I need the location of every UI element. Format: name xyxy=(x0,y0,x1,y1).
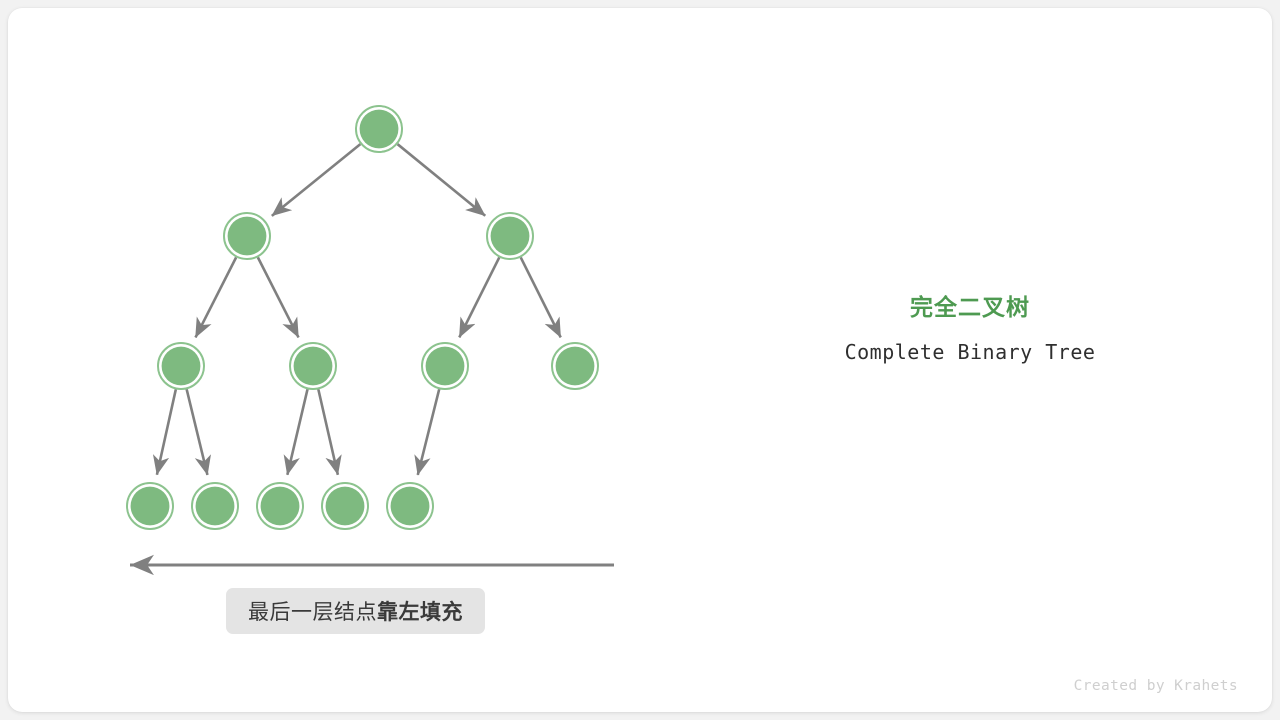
page-title: 完全二叉树 xyxy=(760,292,1180,322)
tree-edge xyxy=(398,144,486,216)
tree-node xyxy=(192,483,238,529)
tree-edge xyxy=(272,144,360,216)
tree-node xyxy=(487,213,533,259)
tree-node-body xyxy=(261,487,300,526)
tree-edge xyxy=(258,257,299,337)
tree-node-body xyxy=(426,347,465,386)
tree-node xyxy=(257,483,303,529)
diagram-canvas: 完全二叉树 Complete Binary Tree 最后一层结点靠左填充 Cr… xyxy=(0,0,1280,720)
tree-node-body xyxy=(196,487,235,526)
tree-node-body xyxy=(556,347,595,386)
tree-edge xyxy=(195,257,236,337)
tree-node xyxy=(290,343,336,389)
tree-edge xyxy=(418,389,439,475)
tree-node xyxy=(127,483,173,529)
tree-edge xyxy=(459,257,499,337)
tree-node-body xyxy=(228,217,267,256)
tree-edge xyxy=(287,389,307,474)
title-block: 完全二叉树 Complete Binary Tree xyxy=(760,292,1180,366)
page-subtitle: Complete Binary Tree xyxy=(760,338,1180,366)
tree-node-body xyxy=(491,217,530,256)
tree-nodes xyxy=(127,106,598,529)
tree-edge xyxy=(318,389,338,474)
tree-edge xyxy=(187,389,208,475)
tree-edges xyxy=(157,144,561,475)
tree-node xyxy=(387,483,433,529)
tree-node-body xyxy=(391,487,430,526)
tree-edge xyxy=(157,389,176,474)
credit-label: Created by Krahets xyxy=(1074,678,1238,694)
tree-node-body xyxy=(326,487,365,526)
tree-node xyxy=(322,483,368,529)
caption-text: 最后一层结点靠左填充 xyxy=(248,596,463,626)
tree-edge xyxy=(521,257,561,337)
tree-node xyxy=(158,343,204,389)
caption-badge: 最后一层结点靠左填充 xyxy=(226,588,485,634)
tree-node-body xyxy=(294,347,333,386)
tree-node-body xyxy=(131,487,170,526)
tree-node xyxy=(422,343,468,389)
tree-node xyxy=(356,106,402,152)
tree-node xyxy=(552,343,598,389)
tree-node-body xyxy=(162,347,201,386)
tree-node-body xyxy=(360,110,399,149)
tree-node xyxy=(224,213,270,259)
